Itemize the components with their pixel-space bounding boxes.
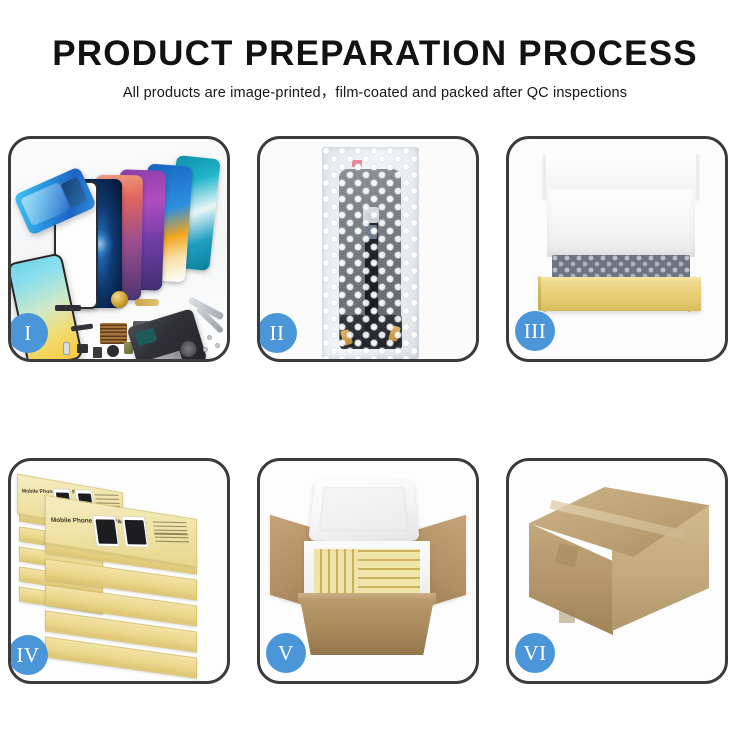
tape-tab-icon — [559, 609, 575, 623]
step-badge-4: IV — [8, 635, 48, 675]
vertical-boxes-icon — [314, 549, 358, 595]
printed-phone-image — [121, 516, 149, 548]
chip-part-icon — [93, 347, 102, 358]
copper-mesh-part-icon — [100, 323, 127, 344]
step-panel-1: I — [8, 136, 230, 362]
chip-part-icon — [77, 344, 88, 353]
screw-icon — [215, 343, 220, 348]
earpiece-part-icon — [55, 305, 81, 311]
product-preparation-infographic: PRODUCT PREPARATION PROCESS All products… — [0, 0, 750, 750]
step-panel-5: V — [257, 458, 479, 684]
kraft-box-front-icon — [541, 283, 701, 311]
printed-phone-image — [92, 515, 120, 547]
step-badge-6: VI — [515, 633, 555, 673]
battery-label-icon — [151, 351, 182, 359]
sim-tray-part-icon — [63, 342, 70, 355]
step-badge-2: II — [257, 313, 297, 353]
white-foam-pad-icon — [547, 189, 695, 257]
bubble-texture-icon — [322, 147, 419, 359]
gold-flex-part-icon — [135, 299, 159, 306]
screw-icon — [203, 347, 208, 352]
box-label-text: Mobile Phone Spare Parts — [51, 517, 130, 525]
step-panel-3: III — [506, 136, 728, 362]
page-subtitle: All products are image-printed，film-coat… — [0, 84, 750, 102]
bubble-wrap-bag-icon — [322, 147, 419, 359]
page-title: PRODUCT PREPARATION PROCESS — [0, 34, 750, 74]
step-panel-2: II — [257, 136, 479, 362]
horizontal-boxes-icon — [358, 549, 420, 595]
step-panel-6: VI — [506, 458, 728, 684]
printed-spec-lines — [153, 521, 190, 545]
camera-ring-part-icon — [111, 291, 128, 308]
carton-body-icon — [300, 599, 434, 655]
header: PRODUCT PREPARATION PROCESS All products… — [0, 0, 750, 102]
screw-icon — [207, 335, 212, 340]
process-steps-grid: I II — [8, 136, 742, 684]
step-badge-1: I — [8, 313, 48, 353]
step-badge-3: III — [515, 311, 555, 351]
step-panel-4: Mobile Phone Spare Parts Mobile Phone Sp… — [8, 458, 230, 684]
speaker-part-icon — [107, 345, 119, 357]
foam-lid-icon — [308, 479, 420, 540]
step-badge-5: V — [266, 633, 306, 673]
packed-boxes-icon — [314, 549, 420, 595]
